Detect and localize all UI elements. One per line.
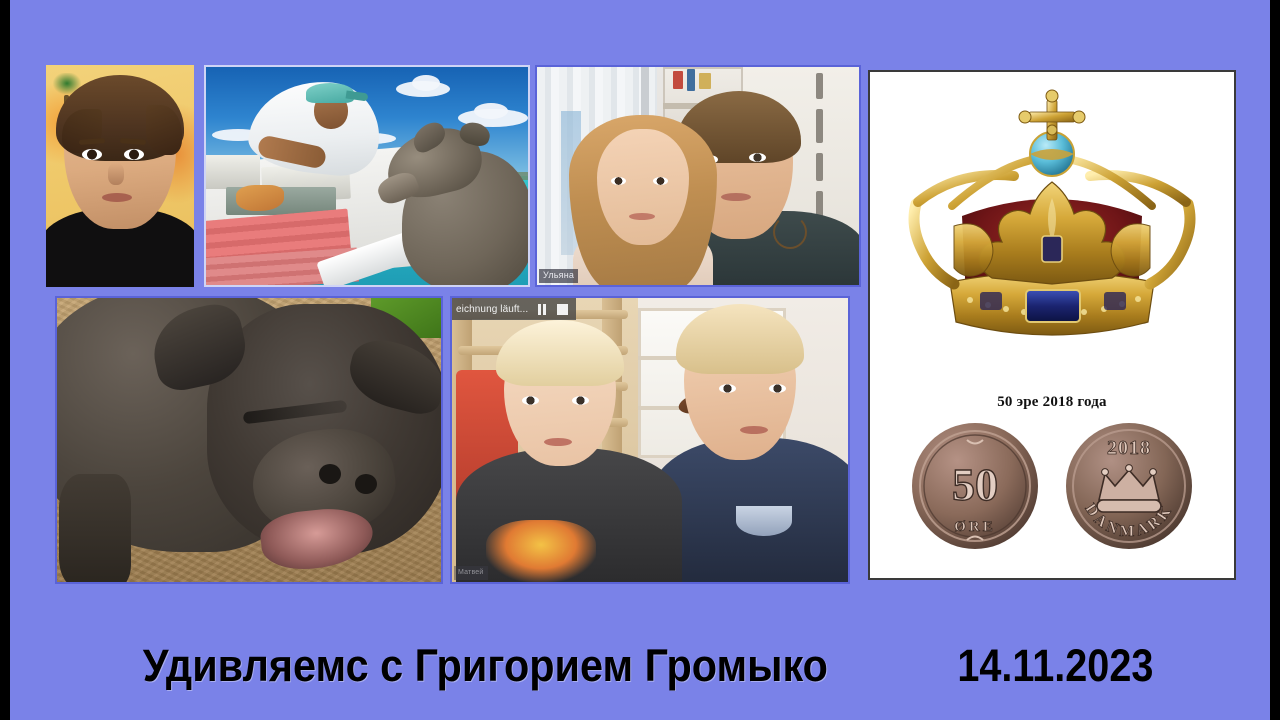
crown-svg [892, 86, 1212, 352]
caption-title: Удивляемс с Григорием Громыко [143, 640, 828, 692]
boy-eye-right [749, 153, 766, 162]
slide-canvas: Ульяна [10, 0, 1270, 720]
boy2-eye-right [769, 384, 786, 393]
boy2-eye-left [719, 384, 736, 393]
girl-eye-left [611, 177, 626, 185]
slide-panel: 50 эре 2018 года 50 ØRE [868, 70, 1236, 580]
video-tile-pig-boat[interactable] [204, 65, 530, 287]
video-tile-boy-portrait[interactable] [46, 65, 194, 287]
tshirt-print [486, 520, 596, 582]
coins-row: 50 ØRE [870, 420, 1234, 570]
cloud [474, 103, 508, 119]
tile-content [46, 65, 194, 287]
video-tile-pig-closeup[interactable] [55, 296, 443, 584]
crown-image [870, 78, 1234, 354]
caption-date: 14.11.2023 [957, 640, 1153, 692]
participant-name-tag: Ульяна [539, 269, 578, 283]
mouth [102, 193, 132, 202]
crown-icon [1097, 465, 1161, 512]
pig-nostril [355, 474, 377, 494]
tile-content: Ульяна [537, 67, 859, 285]
tile-content: eichnung läuft... Матвей [452, 298, 848, 582]
slide-caption: Удивляемс с Григорием Громыко 14.11.2023 [20, 628, 1260, 704]
man-cap [306, 83, 354, 103]
cloud [412, 75, 440, 91]
girl-eye-right [653, 177, 668, 185]
pig-foreleg [59, 474, 131, 582]
tile-content [57, 298, 441, 582]
boy1-eye-left [522, 396, 539, 405]
recording-status-text: eichnung läuft... [456, 304, 528, 315]
boy1-eye-right [572, 396, 589, 405]
participant-name-tag: Матвей [454, 566, 488, 580]
cupboard-handle [816, 109, 823, 143]
cupboard-handle [816, 153, 823, 181]
recording-status-bar[interactable]: eichnung läuft... [452, 298, 576, 320]
screenshot-stage: Ульяна [0, 0, 1280, 720]
bait-food [236, 185, 284, 211]
eye-right [124, 149, 144, 160]
boy1-mouth [544, 438, 572, 446]
boy-mouth [721, 193, 751, 201]
nose [108, 163, 124, 185]
coin-obverse: 50 ØRE [909, 420, 1041, 552]
eye-left [82, 149, 102, 160]
shelf-item [673, 71, 683, 89]
coin-ring-text: ØRE [954, 519, 996, 535]
coin-year: 2018 [1107, 437, 1151, 459]
boy2-mouth [740, 426, 768, 434]
shelf-item [699, 73, 711, 89]
tile-content [206, 67, 528, 285]
coin-caption: 50 эре 2018 года [870, 394, 1234, 411]
pig-nostril [319, 464, 341, 484]
pause-icon[interactable] [538, 304, 547, 315]
deck-box [206, 155, 260, 189]
video-tile-two-boys[interactable]: eichnung läuft... Матвей [450, 296, 850, 584]
boy2-collar [736, 506, 792, 536]
girl-mouth [629, 213, 655, 220]
coin-reverse: 2018 DANMARK [1063, 420, 1195, 552]
video-tile-girl-and-boy[interactable]: Ульяна [535, 65, 861, 287]
coin-denomination: 50 [952, 459, 998, 510]
stop-icon[interactable] [557, 304, 568, 315]
cupboard-handle [816, 73, 823, 99]
necklace-cord [773, 215, 807, 249]
shelf-item [687, 69, 695, 91]
